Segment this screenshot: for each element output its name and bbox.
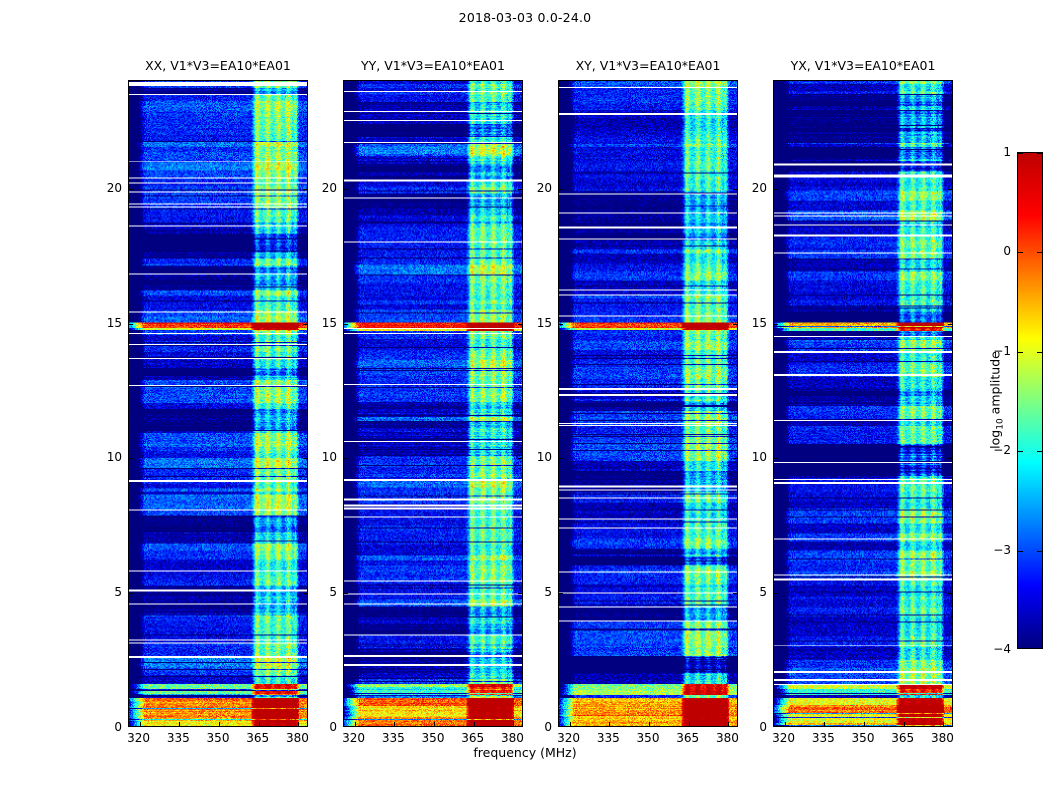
x-tick-label: 350 <box>422 731 445 745</box>
colorbar-tick-label: 1 <box>1003 145 1011 159</box>
x-tick <box>298 722 299 726</box>
x-tick <box>943 722 944 726</box>
y-tick <box>344 458 348 459</box>
y-tick <box>518 593 522 594</box>
x-tick <box>785 722 786 726</box>
panel-title-xy: XY, V1*V3=EA10*EA01 <box>576 58 721 73</box>
colorbar-label: log10 amplitude <box>988 351 1003 449</box>
y-tick-label: 20 <box>752 181 767 195</box>
x-tick-label: 365 <box>676 731 699 745</box>
x-tick <box>219 722 220 726</box>
x-tick-label: 350 <box>637 731 660 745</box>
x-tick-label: 320 <box>772 731 795 745</box>
colorbar-gradient <box>1017 152 1043 649</box>
colorbar-tick-label: −4 <box>993 642 1011 656</box>
y-tick-label: 0 <box>114 720 122 734</box>
y-tick <box>129 458 133 459</box>
y-tick <box>559 458 563 459</box>
y-tick-label: 15 <box>537 316 552 330</box>
colorbar-tick <box>1018 352 1023 353</box>
panel-yy[interactable]: YY, V1*V3=EA10*EA01 320335350365380 <box>343 80 523 727</box>
x-tick <box>689 722 690 726</box>
panel-title-yy: YY, V1*V3=EA10*EA01 <box>361 58 505 73</box>
y-tick <box>518 458 522 459</box>
colorbar-tick <box>1037 352 1042 353</box>
y-tick-label: 20 <box>322 181 337 195</box>
figure-canvas: 2018-03-03 0.0-24.0 XX, V1*V3=EA10*EA01 … <box>0 0 1050 800</box>
y-tick-label: 10 <box>107 450 122 464</box>
y-tick <box>774 593 778 594</box>
y-tick <box>344 189 348 190</box>
y-tick <box>129 593 133 594</box>
y-tick <box>948 593 952 594</box>
x-tick <box>609 722 610 726</box>
y-tick-label: 5 <box>759 585 767 599</box>
x-tick <box>140 722 141 726</box>
y-tick <box>344 593 348 594</box>
y-tick <box>733 458 737 459</box>
x-tick-label: 335 <box>597 731 620 745</box>
x-tick <box>259 722 260 726</box>
figure-suptitle: 2018-03-03 0.0-24.0 <box>0 10 1050 25</box>
y-tick-label: 0 <box>759 720 767 734</box>
y-tick <box>303 189 307 190</box>
x-tick-label: 365 <box>246 731 269 745</box>
x-tick-label: 365 <box>461 731 484 745</box>
x-axis-label: frequency (MHz) <box>0 745 1050 760</box>
panel-title-yx: YX, V1*V3=EA10*EA01 <box>791 58 936 73</box>
colorbar-tick <box>1018 451 1023 452</box>
x-tick-label: 380 <box>716 731 739 745</box>
x-tick-label: 350 <box>207 731 230 745</box>
x-tick-label: 335 <box>382 731 405 745</box>
waterfall-image-xy <box>559 81 737 726</box>
colorbar-tick <box>1037 252 1042 253</box>
heatmap-axes-yy[interactable] <box>343 80 523 727</box>
x-tick <box>570 722 571 726</box>
y-tick <box>559 324 563 325</box>
colorbar-tick-label: −3 <box>993 543 1011 557</box>
heatmap-axes-xx[interactable] <box>128 80 308 727</box>
x-tick-label: 335 <box>167 731 190 745</box>
colorbar-tick <box>1018 252 1023 253</box>
waterfall-image-xx <box>129 81 307 726</box>
y-tick <box>344 324 348 325</box>
y-tick-label: 10 <box>537 450 552 464</box>
heatmap-axes-yx[interactable] <box>773 80 953 727</box>
y-tick <box>303 324 307 325</box>
y-tick-label: 0 <box>329 720 337 734</box>
y-tick-label: 20 <box>537 181 552 195</box>
y-tick <box>303 458 307 459</box>
y-tick-label: 20 <box>107 181 122 195</box>
colorbar-tick <box>1037 451 1042 452</box>
y-tick <box>733 189 737 190</box>
y-tick <box>559 593 563 594</box>
colorbar-tick-label: 0 <box>1003 244 1011 258</box>
x-tick <box>728 722 729 726</box>
panel-xy[interactable]: XY, V1*V3=EA10*EA01 320335350365380 <box>558 80 738 727</box>
x-tick <box>824 722 825 726</box>
x-tick <box>355 722 356 726</box>
x-tick <box>474 722 475 726</box>
x-tick-label: 380 <box>286 731 309 745</box>
panel-title-xx: XX, V1*V3=EA10*EA01 <box>145 58 291 73</box>
y-tick <box>948 189 952 190</box>
colorbar-tick-label: −1 <box>993 344 1011 358</box>
y-tick <box>948 324 952 325</box>
x-tick <box>513 722 514 726</box>
x-tick <box>864 722 865 726</box>
x-tick <box>179 722 180 726</box>
y-tick-label: 5 <box>544 585 552 599</box>
y-tick-label: 10 <box>322 450 337 464</box>
colorbar-tick <box>1037 551 1042 552</box>
y-tick-label: 10 <box>752 450 767 464</box>
colorbar-tick <box>1018 551 1023 552</box>
colorbar[interactable]: log10 amplitude 10−1−2−3−4 <box>1017 152 1043 649</box>
x-tick-label: 335 <box>812 731 835 745</box>
y-tick <box>518 324 522 325</box>
x-tick-label: 380 <box>931 731 954 745</box>
colorbar-tick <box>1037 153 1042 154</box>
y-tick <box>774 458 778 459</box>
x-tick-label: 320 <box>127 731 150 745</box>
y-tick <box>774 189 778 190</box>
x-tick-label: 380 <box>501 731 524 745</box>
x-tick-label: 365 <box>891 731 914 745</box>
y-tick <box>518 189 522 190</box>
waterfall-image-yy <box>344 81 522 726</box>
y-tick-label: 0 <box>544 720 552 734</box>
y-tick <box>774 324 778 325</box>
x-tick <box>649 722 650 726</box>
panel-xx[interactable]: XX, V1*V3=EA10*EA01 320335350365380 <box>128 80 308 727</box>
y-tick-label: 5 <box>114 585 122 599</box>
colorbar-tick-label: −2 <box>993 443 1011 457</box>
y-tick <box>733 324 737 325</box>
y-tick <box>303 593 307 594</box>
y-tick <box>733 593 737 594</box>
x-tick <box>434 722 435 726</box>
panel-yx[interactable]: YX, V1*V3=EA10*EA01 320335350365380 <box>773 80 953 727</box>
x-tick <box>904 722 905 726</box>
colorbar-tick <box>1018 153 1023 154</box>
y-tick-label: 5 <box>329 585 337 599</box>
waterfall-image-yx <box>774 81 952 726</box>
x-tick-label: 320 <box>557 731 580 745</box>
y-tick <box>129 324 133 325</box>
x-tick <box>394 722 395 726</box>
y-tick-label: 15 <box>107 316 122 330</box>
y-tick <box>559 189 563 190</box>
heatmap-axes-xy[interactable] <box>558 80 738 727</box>
x-tick-label: 320 <box>342 731 365 745</box>
y-tick-label: 15 <box>322 316 337 330</box>
y-tick <box>129 189 133 190</box>
y-tick-label: 15 <box>752 316 767 330</box>
x-tick-label: 350 <box>852 731 875 745</box>
y-tick <box>948 458 952 459</box>
